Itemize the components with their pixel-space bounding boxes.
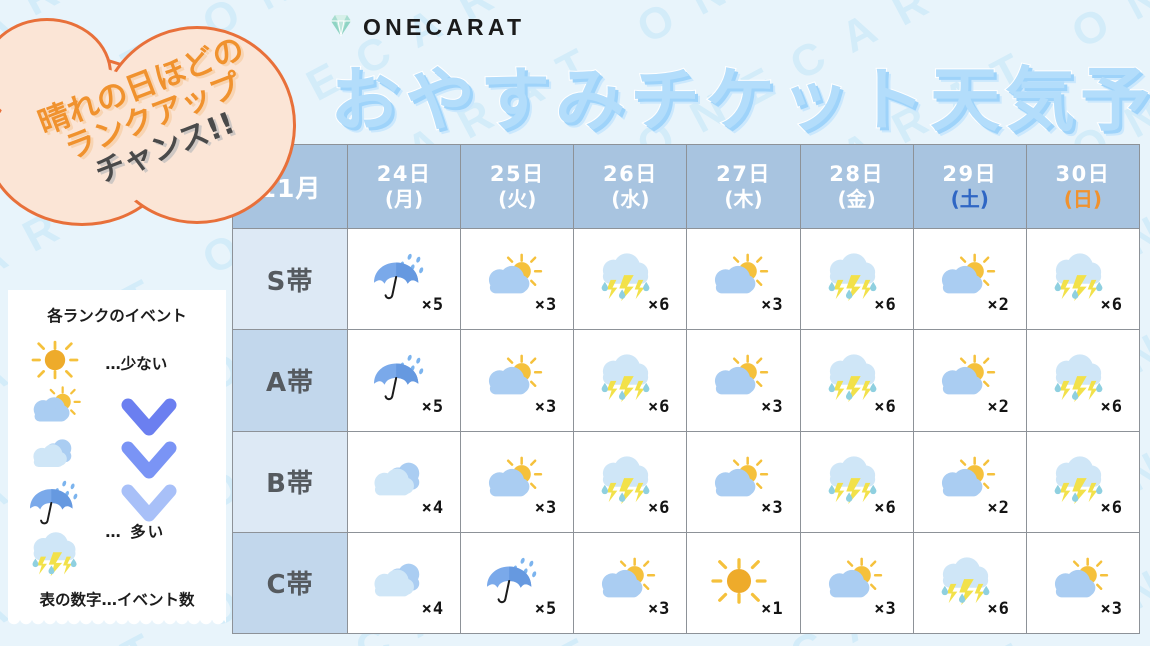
forecast-cell[interactable]: ×3 <box>800 532 913 633</box>
forecast-cell[interactable]: ×4 <box>348 431 461 532</box>
event-count: ×3 <box>761 397 783 417</box>
forecast-cell[interactable]: ×5 <box>348 330 461 431</box>
forecast-cell[interactable]: ×2 <box>913 229 1026 330</box>
day-weekday: (土) <box>914 188 1026 211</box>
day-weekday: (日) <box>1027 188 1139 211</box>
legend-more-label: … 多い <box>105 520 165 542</box>
day-weekday: (月) <box>348 188 460 211</box>
event-count: ×6 <box>648 498 670 518</box>
legend-icon-column <box>18 338 91 578</box>
legend-footer: 表の数字…イベント数 <box>39 588 194 610</box>
event-count: ×2 <box>987 498 1009 518</box>
forecast-cell[interactable]: ×3 <box>687 229 800 330</box>
event-count: ×3 <box>648 599 670 619</box>
day-number: 29日 <box>914 162 1026 187</box>
day-weekday: (水) <box>574 188 686 211</box>
day-number: 30日 <box>1027 162 1139 187</box>
forecast-cell[interactable]: ×3 <box>574 532 687 633</box>
day-weekday: (火) <box>461 188 573 211</box>
day-header-4: 27日(木) <box>687 145 800 229</box>
table-body: S帯 ×5 <box>233 229 1140 634</box>
forecast-cell[interactable]: ×3 <box>461 229 574 330</box>
legend-card: 各ランクのイベント <box>8 290 226 620</box>
chevron-down-icon <box>121 439 177 488</box>
event-count: ×5 <box>535 599 557 619</box>
forecast-cell[interactable]: ×2 <box>913 330 1026 431</box>
rain-umbrella-icon <box>25 478 85 528</box>
day-weekday: (金) <box>801 188 913 211</box>
forecast-cell[interactable]: ×3 <box>461 330 574 431</box>
day-header-1: 24日(月) <box>348 145 461 229</box>
event-count: ×6 <box>648 397 670 417</box>
day-number: 26日 <box>574 162 686 187</box>
sun-icon <box>27 338 83 382</box>
event-count: ×3 <box>535 295 557 315</box>
event-count: ×4 <box>422 498 444 518</box>
event-count: ×6 <box>1101 397 1123 417</box>
table-row: S帯 ×5 <box>233 229 1140 330</box>
brand-name: ONECARAT <box>363 14 525 41</box>
day-header-2: 25日(火) <box>461 145 574 229</box>
forecast-cell[interactable]: ×6 <box>1026 229 1139 330</box>
legend-less-label: …少ない <box>105 352 167 374</box>
forecast-cell[interactable]: ×3 <box>687 330 800 431</box>
thunder-cloud-icon <box>24 530 86 578</box>
event-count: ×6 <box>987 599 1009 619</box>
forecast-cell[interactable]: ×6 <box>574 431 687 532</box>
event-count: ×6 <box>648 295 670 315</box>
table-header-row: 11月 24日(月)25日(火)26日(水)27日(木)28日(金)29日(土)… <box>233 145 1140 229</box>
event-count: ×1 <box>761 599 783 619</box>
day-number: 24日 <box>348 162 460 187</box>
forecast-cell[interactable]: ×6 <box>574 229 687 330</box>
event-count: ×5 <box>422 295 444 315</box>
forecast-cell[interactable]: ×6 <box>800 431 913 532</box>
event-count: ×6 <box>1101 498 1123 518</box>
forecast-cell[interactable]: ×3 <box>461 431 574 532</box>
day-header-7: 30日(日) <box>1026 145 1139 229</box>
forecast-cell[interactable]: ×5 <box>461 532 574 633</box>
event-count: ×6 <box>874 295 896 315</box>
forecast-cell[interactable]: ×5 <box>348 229 461 330</box>
weather-forecast-table: 11月 24日(月)25日(火)26日(水)27日(木)28日(金)29日(土)… <box>232 144 1140 634</box>
legend-title: 各ランクのイベント <box>47 304 187 326</box>
rank-label-3: B帯 <box>233 431 348 532</box>
event-count: ×3 <box>535 498 557 518</box>
forecast-cell[interactable]: ×2 <box>913 431 1026 532</box>
day-number: 28日 <box>801 162 913 187</box>
event-count: ×2 <box>987 397 1009 417</box>
rank-label-2: A帯 <box>233 330 348 431</box>
event-count: ×4 <box>422 599 444 619</box>
table-row: A帯 ×5 <box>233 330 1140 431</box>
forecast-cell[interactable]: ×6 <box>1026 431 1139 532</box>
table-header: 11月 24日(月)25日(火)26日(水)27日(木)28日(金)29日(土)… <box>233 145 1140 229</box>
forecast-cell[interactable]: ×4 <box>348 532 461 633</box>
table-row: C帯 ×4 <box>233 532 1140 633</box>
rank-label-4: C帯 <box>233 532 348 633</box>
forecast-cell[interactable]: ×6 <box>1026 330 1139 431</box>
forecast-cell[interactable]: ×6 <box>574 330 687 431</box>
page-title: おやすみチケット天気予報 <box>330 44 1150 145</box>
event-count: ×3 <box>761 295 783 315</box>
event-count: ×2 <box>987 295 1009 315</box>
event-count: ×3 <box>1101 599 1123 619</box>
chevron-down-icon <box>121 396 177 445</box>
event-count: ×3 <box>535 397 557 417</box>
table-row: B帯 ×4 <box>233 431 1140 532</box>
event-count: ×3 <box>874 599 896 619</box>
day-header-3: 26日(水) <box>574 145 687 229</box>
day-number: 25日 <box>461 162 573 187</box>
forecast-cell[interactable]: ×1 <box>687 532 800 633</box>
day-header-6: 29日(土) <box>913 145 1026 229</box>
legend-arrows <box>121 396 177 525</box>
day-weekday: (木) <box>687 188 799 211</box>
rank-label-1: S帯 <box>233 229 348 330</box>
legend-text-column: …少ない … 多い <box>99 338 216 576</box>
forecast-cell[interactable]: ×6 <box>800 330 913 431</box>
forecast-cell[interactable]: ×6 <box>913 532 1026 633</box>
forecast-cell[interactable]: ×3 <box>1026 532 1139 633</box>
sun-cloud-icon <box>24 384 86 430</box>
event-count: ×5 <box>422 397 444 417</box>
day-header-5: 28日(金) <box>800 145 913 229</box>
event-count: ×6 <box>874 498 896 518</box>
day-number: 27日 <box>687 162 799 187</box>
event-count: ×3 <box>761 498 783 518</box>
cloud-icon <box>25 432 85 476</box>
diamond-icon <box>328 12 354 43</box>
event-count: ×6 <box>874 397 896 417</box>
brand-logo: ONECARAT <box>328 12 525 43</box>
forecast-cell[interactable]: ×6 <box>800 229 913 330</box>
forecast-cell[interactable]: ×3 <box>687 431 800 532</box>
event-count: ×6 <box>1101 295 1123 315</box>
